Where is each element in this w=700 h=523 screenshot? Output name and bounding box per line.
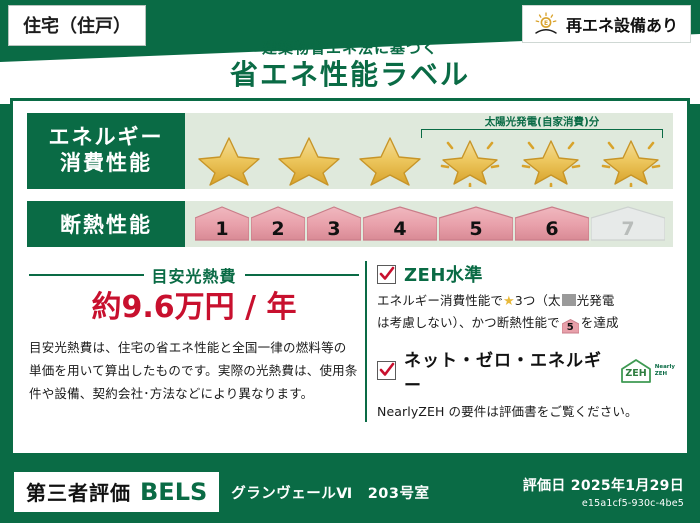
cost-rule-right <box>245 274 360 276</box>
energy-performance-row: エネルギー 消費性能 太陽光発電(自家消費)分 <box>27 113 673 189</box>
renewable-badge-label: 再エネ設備あり <box>566 12 678 36</box>
title-subtitle: 建築物省エネ法に基づく <box>0 40 700 57</box>
insulation-level-1: 1 <box>195 206 249 242</box>
insulation-level-6: 6 <box>515 206 589 242</box>
energy-label-line1: エネルギー <box>49 125 164 151</box>
zeh-house-icon: ZEH <box>619 358 653 384</box>
zeh-logo-subtext: Nearly ZEH <box>655 364 675 377</box>
zeh-desc-line2a: は考慮しない）、かつ断熱性能で <box>377 315 560 330</box>
inline-star-icon: ★ <box>503 294 515 309</box>
insulation-level-number: 3 <box>327 218 340 240</box>
zeh-standard-description: エネルギー消費性能で★3つ（太光発電 は考慮しない）、かつ断熱性能で5を達成 <box>377 291 675 334</box>
insulation-performance-label: 断熱性能 <box>27 201 185 247</box>
cost-column: 目安光熱費 約9.6万円 / 年 目安光熱費は、住宅の省エネ性能と全国一律の燃料… <box>13 261 365 422</box>
zeh-house-logo: ZEH Nearly ZEH <box>619 358 675 384</box>
zeh-standard-title-row: ZEH水準 <box>377 261 675 287</box>
insulation-level-3: 3 <box>307 206 361 242</box>
insulation-level-7: 7 <box>591 206 665 242</box>
svg-text:ZEH: ZEH <box>625 368 646 379</box>
zeh-netzero-description: NearlyZEH の要件は評価書をご覧ください。 <box>377 402 675 422</box>
insulation-badge-icon: 5 <box>562 319 579 334</box>
cost-heading: 目安光熱費 <box>29 263 359 287</box>
evaluation-id: e15a1cf5-930c-4be5 <box>523 498 684 509</box>
insulation-scale-panel: 1 2 3 4 5 <box>185 201 673 247</box>
insulation-level-number: 2 <box>271 218 284 240</box>
zeh-logo-sub2: ZEH <box>655 371 667 377</box>
star-icon <box>354 135 426 187</box>
zeh-netzero-block: ネット・ゼロ・エネルギー ZEH Nearly ZEH NearlyZEH の要… <box>377 346 675 422</box>
solar-bracket-caption: 太陽光発電(自家消費)分 <box>421 117 663 128</box>
insulation-level-2: 2 <box>251 206 305 242</box>
insulation-level-number: 1 <box>215 218 228 240</box>
top-header: 建築物省エネ法に基づく 省エネ性能ラベル 住宅（住戸） E 再エネ設備あり <box>0 0 700 96</box>
bels-jp-label: 第三者評価 <box>26 477 131 506</box>
zeh-column: ZEH水準 エネルギー消費性能で★3つ（太光発電 は考慮しない）、かつ断熱性能で… <box>365 261 687 422</box>
insulation-level-4: 4 <box>363 206 437 242</box>
cost-value: 約9.6万円 / 年 <box>29 291 359 324</box>
zeh-standard-title: ZEH水準 <box>404 261 483 287</box>
insulation-levels: 1 2 3 4 5 <box>185 206 665 242</box>
star-solar-icon <box>595 135 667 187</box>
zeh-netzero-title-row: ネット・ゼロ・エネルギー ZEH Nearly ZEH <box>377 346 675 396</box>
sun-icon: E <box>533 12 559 36</box>
cost-rule-left <box>29 274 144 276</box>
star-rating <box>193 135 667 187</box>
insulation-level-5: 5 <box>439 206 513 242</box>
redacted-block <box>562 294 576 306</box>
insulation-badge-number: 5 <box>562 319 579 336</box>
star-solar-icon <box>434 135 506 187</box>
insulation-performance-row: 断熱性能 1 2 3 4 <box>27 201 673 247</box>
building-name: グランヴェールⅥ 203号室 <box>231 482 429 503</box>
energy-star-panel: 太陽光発電(自家消費)分 <box>185 113 673 189</box>
energy-performance-label: エネルギー 消費性能 <box>27 113 185 189</box>
star-icon <box>273 135 345 187</box>
lower-section: 目安光熱費 約9.6万円 / 年 目安光熱費は、住宅の省エネ性能と全国一律の燃料… <box>13 261 687 422</box>
zeh-standard-block: ZEH水準 エネルギー消費性能で★3つ（太光発電 は考慮しない）、かつ断熱性能で… <box>377 261 675 334</box>
star-solar-icon <box>515 135 587 187</box>
checkbox-checked-icon <box>377 265 396 284</box>
zeh-desc-part2: 光発電 <box>577 293 615 308</box>
cost-heading-text: 目安光熱費 <box>152 263 237 287</box>
energy-label-line2: 消費性能 <box>60 151 152 177</box>
bels-certification-box: 第三者評価 BELS <box>14 472 219 512</box>
checkbox-checked-icon <box>377 361 396 380</box>
star-icon <box>193 135 265 187</box>
evaluation-date: 評価日 2025年1月29日 <box>523 475 684 495</box>
svg-text:E: E <box>544 20 548 27</box>
zeh-desc-line2b: を達成 <box>581 315 619 330</box>
zeh-desc-part1: エネルギー消費性能で <box>377 293 503 308</box>
insulation-level-number: 6 <box>545 218 558 240</box>
footer: 第三者評価 BELS グランヴェールⅥ 203号室 評価日 2025年1月29日… <box>0 461 700 523</box>
bels-en-label: BELS <box>140 478 207 506</box>
label-card: エネルギー 消費性能 太陽光発電(自家消費)分 <box>10 98 690 456</box>
title-main: 省エネ性能ラベル <box>0 59 700 91</box>
zeh-desc-stars: 3つ（太 <box>515 293 561 308</box>
evaluation-info: 評価日 2025年1月29日 e15a1cf5-930c-4be5 <box>523 475 684 509</box>
zeh-logo-sub1: Nearly <box>655 364 675 370</box>
insulation-level-number: 5 <box>469 218 482 240</box>
insulation-level-number: 4 <box>393 218 406 240</box>
insulation-level-number: 7 <box>621 218 634 240</box>
renewable-equipment-badge: E 再エネ設備あり <box>522 5 691 43</box>
cost-note: 目安光熱費は、住宅の省エネ性能と全国一律の燃料等の単価を用いて算出したものです。… <box>29 336 359 405</box>
title-block: 建築物省エネ法に基づく 省エネ性能ラベル <box>0 40 700 91</box>
zeh-netzero-title: ネット・ゼロ・エネルギー <box>404 346 607 396</box>
